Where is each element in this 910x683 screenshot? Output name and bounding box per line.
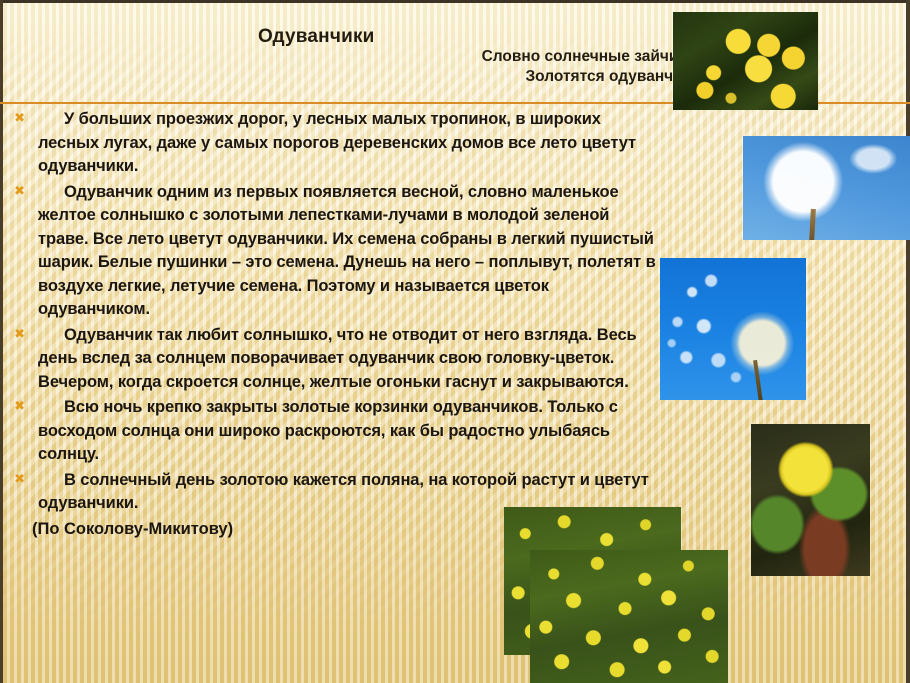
paragraph-item: ✖ Одуванчик так любит солнышко, что не о…	[0, 324, 660, 395]
paragraph-text: Одуванчик так любит солнышко, что не отв…	[38, 324, 660, 395]
bullet-cross-icon: ✖	[14, 185, 25, 196]
puffball-stem	[809, 209, 816, 240]
body-text-column: ✖ У больших проезжих дорог, у лесных мал…	[0, 108, 660, 541]
bullet-cross-icon: ✖	[14, 473, 25, 484]
paragraph-text: У больших проезжих дорог, у лесных малых…	[38, 108, 660, 179]
subtitle-line-1: Словно солнечные зайчики,	[300, 47, 700, 67]
seeds-stem	[753, 360, 763, 400]
photo-meadow-front	[530, 550, 728, 683]
paragraph-item: ✖ У больших проезжих дорог, у лесных мал…	[0, 108, 660, 179]
paragraph-item: ✖ Всю ночь крепко закрыты золотые корзин…	[0, 396, 660, 467]
bullet-cross-icon: ✖	[14, 112, 25, 123]
photo-plant	[751, 424, 870, 576]
slide-canvas: Одуванчики Словно солнечные зайчики, Зол…	[0, 0, 910, 683]
photo-flowers-top	[673, 12, 818, 110]
slide-title: Одуванчики	[258, 26, 375, 48]
paragraph-text: Одуванчик одним из первых появляется вес…	[38, 181, 660, 322]
photo-seeds	[660, 258, 806, 400]
subtitle-line-2: Золотятся одуванчики	[300, 67, 700, 87]
slide-subtitle: Словно солнечные зайчики, Золотятся одув…	[300, 47, 700, 87]
slide-border-top	[0, 0, 910, 3]
paragraph-item: ✖ Одуванчик одним из первых появляется в…	[0, 181, 660, 322]
bullet-cross-icon: ✖	[14, 400, 25, 411]
bullet-cross-icon: ✖	[14, 328, 25, 339]
photo-puffball	[743, 136, 910, 240]
paragraph-text: Всю ночь крепко закрыты золотые корзинки…	[38, 396, 660, 467]
